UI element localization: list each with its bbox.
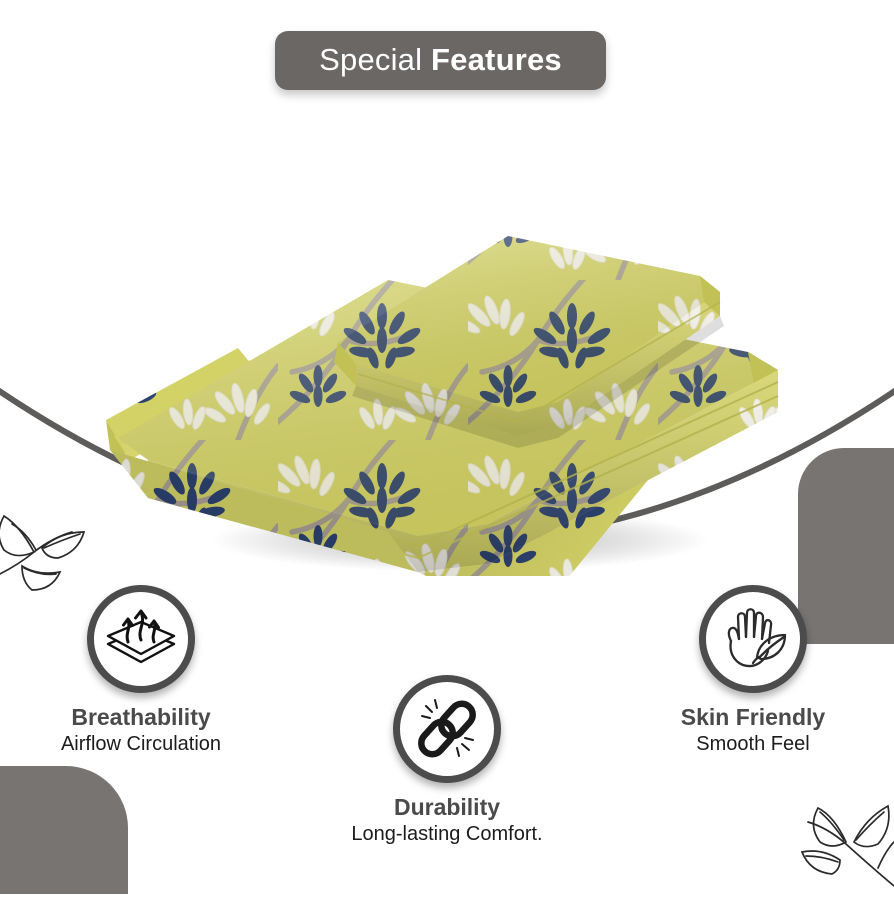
skin-friendly-subtitle: Smooth Feel [629, 733, 877, 756]
feature-durability: Durability Long-lasting Comfort. [323, 675, 571, 846]
product-image [88, 120, 812, 576]
skin-friendly-title: Skin Friendly [629, 705, 877, 730]
hand-leaf-icon [713, 599, 793, 679]
feature-breathability: Breathability Airflow Circulation [17, 585, 265, 756]
airflow-layers-icon [102, 600, 180, 678]
durability-title: Durability [323, 795, 571, 820]
title-light: Special [319, 42, 431, 77]
leaf-sprig-right-icon [782, 780, 894, 895]
infographic-canvas: Special Features [0, 0, 894, 894]
page-title: Special Features [319, 44, 562, 78]
title-bold: Features [431, 42, 562, 77]
durability-badge [393, 675, 501, 783]
durability-subtitle: Long-lasting Comfort. [323, 823, 571, 846]
breathability-subtitle: Airflow Circulation [17, 733, 265, 756]
header-banner: Special Features [275, 31, 606, 90]
chain-link-icon [408, 690, 486, 768]
breathability-title: Breathability [17, 705, 265, 730]
breathability-badge [87, 585, 195, 693]
feature-skin-friendly: Skin Friendly Smooth Feel [629, 585, 877, 756]
skin-friendly-badge [699, 585, 807, 693]
